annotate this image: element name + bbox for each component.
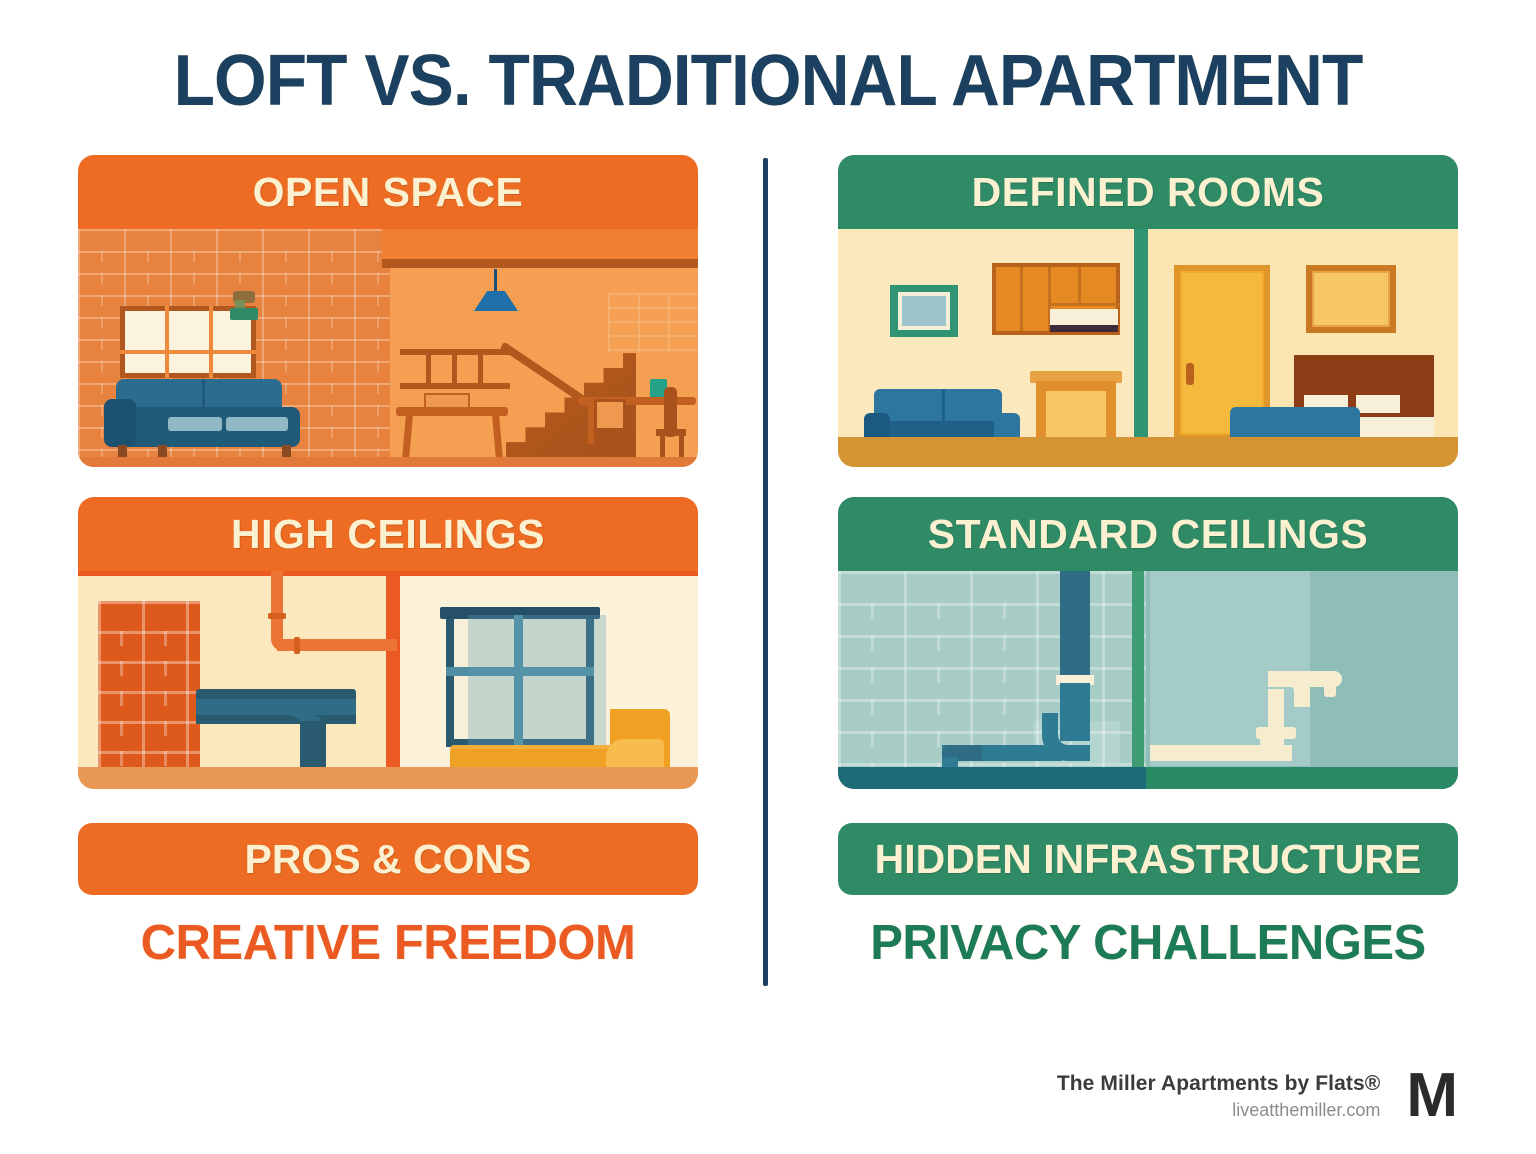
bed-pillow [1356, 395, 1400, 413]
illustration-loft-high-ceilings [78, 571, 698, 789]
cabinet-divider [1020, 267, 1023, 331]
faucet-outlet [1324, 683, 1336, 697]
footer-text-block: The Miller Apartments by Flats® liveatth… [1057, 1072, 1381, 1121]
pipe-joint [268, 613, 286, 619]
windowsill-plant-icon [230, 308, 258, 320]
pipe-valve-icon [1256, 727, 1296, 739]
railing-post [426, 349, 431, 389]
panel-defined-rooms: DEFINED ROOMS [838, 155, 1458, 467]
chair-leg [620, 429, 625, 459]
window-mullion [120, 350, 256, 354]
pill-pros-and-cons[interactable]: PROS & CONS [78, 823, 698, 895]
illustration-defined-rooms [838, 229, 1458, 467]
page-title: LOFT VS. TRADITIONAL APARTMENT [46, 40, 1490, 122]
railing-post [452, 349, 457, 389]
illustration-loft-open-space [78, 229, 698, 467]
panel-header-open-space: OPEN SPACE [78, 155, 698, 229]
steel-beam-flange [196, 715, 356, 724]
center-divider [763, 158, 768, 986]
duct-pipe-upper [1060, 571, 1090, 679]
fireplace-opening [1046, 391, 1106, 441]
brick-pillar-offset [120, 616, 200, 779]
sofa-cushion-seam [202, 379, 205, 409]
cabinet-divider [1078, 267, 1081, 305]
chair-leg [679, 435, 684, 459]
picture-artwork [902, 296, 946, 326]
kicker-creative-freedom: CREATIVE FREEDOM [78, 915, 698, 971]
floor-band [78, 457, 698, 467]
chair-leg [660, 435, 665, 459]
bedroom-picture-artwork [1314, 273, 1388, 325]
sofa-armrest [104, 399, 136, 447]
footer-branding: The Miller Apartments by Flats® liveatth… [1057, 1068, 1458, 1124]
floor-band-right [1146, 767, 1458, 789]
panel-open-space: OPEN SPACE [78, 155, 698, 467]
panel-header-standard-ceilings: STANDARD CEILINGS [838, 497, 1458, 571]
faded-brick-accent [608, 293, 698, 353]
chair-back [594, 399, 626, 431]
door-handle-icon [1186, 363, 1194, 385]
structural-column [386, 571, 400, 789]
brand-name: The Miller Apartments by Flats® [1057, 1072, 1381, 1096]
cabinet-shelf [1050, 303, 1120, 306]
railing-post [478, 349, 483, 389]
window-mullion [209, 306, 213, 378]
ceiling-beam [382, 259, 698, 268]
panel-high-ceilings: HIGH CEILINGS [78, 497, 698, 789]
illustration-standard-ceilings [838, 571, 1458, 789]
sofa-cushion [226, 417, 288, 431]
pipe-joint [294, 637, 300, 654]
floor-band [838, 437, 1458, 467]
sofa-cushion [168, 417, 222, 431]
window-light-tint [468, 615, 606, 755]
panel-header-high-ceilings: HIGH CEILINGS [78, 497, 698, 571]
panel-header-defined-rooms: DEFINED ROOMS [838, 155, 1458, 229]
website-url[interactable]: liveatthemiller.com [1057, 1100, 1381, 1121]
logo-m-icon: M [1406, 1068, 1458, 1124]
green-column [1132, 571, 1144, 789]
supply-pipe-horizontal [1150, 745, 1276, 761]
pill-hidden-infrastructure[interactable]: HIDDEN INFRASTRUCTURE [838, 823, 1458, 895]
window-mullion [165, 306, 169, 378]
floor-shading [78, 767, 698, 789]
chair-leg [598, 429, 603, 459]
panel-standard-ceilings: STANDARD CEILINGS [838, 497, 1458, 789]
kicker-privacy-challenges: PRIVACY CHALLENGES [838, 915, 1458, 971]
sofa-cushion-seam [942, 389, 945, 421]
cabinet-base-trim [1050, 325, 1118, 332]
ceiling-band [382, 229, 698, 259]
room-dividing-wall [1134, 229, 1148, 467]
